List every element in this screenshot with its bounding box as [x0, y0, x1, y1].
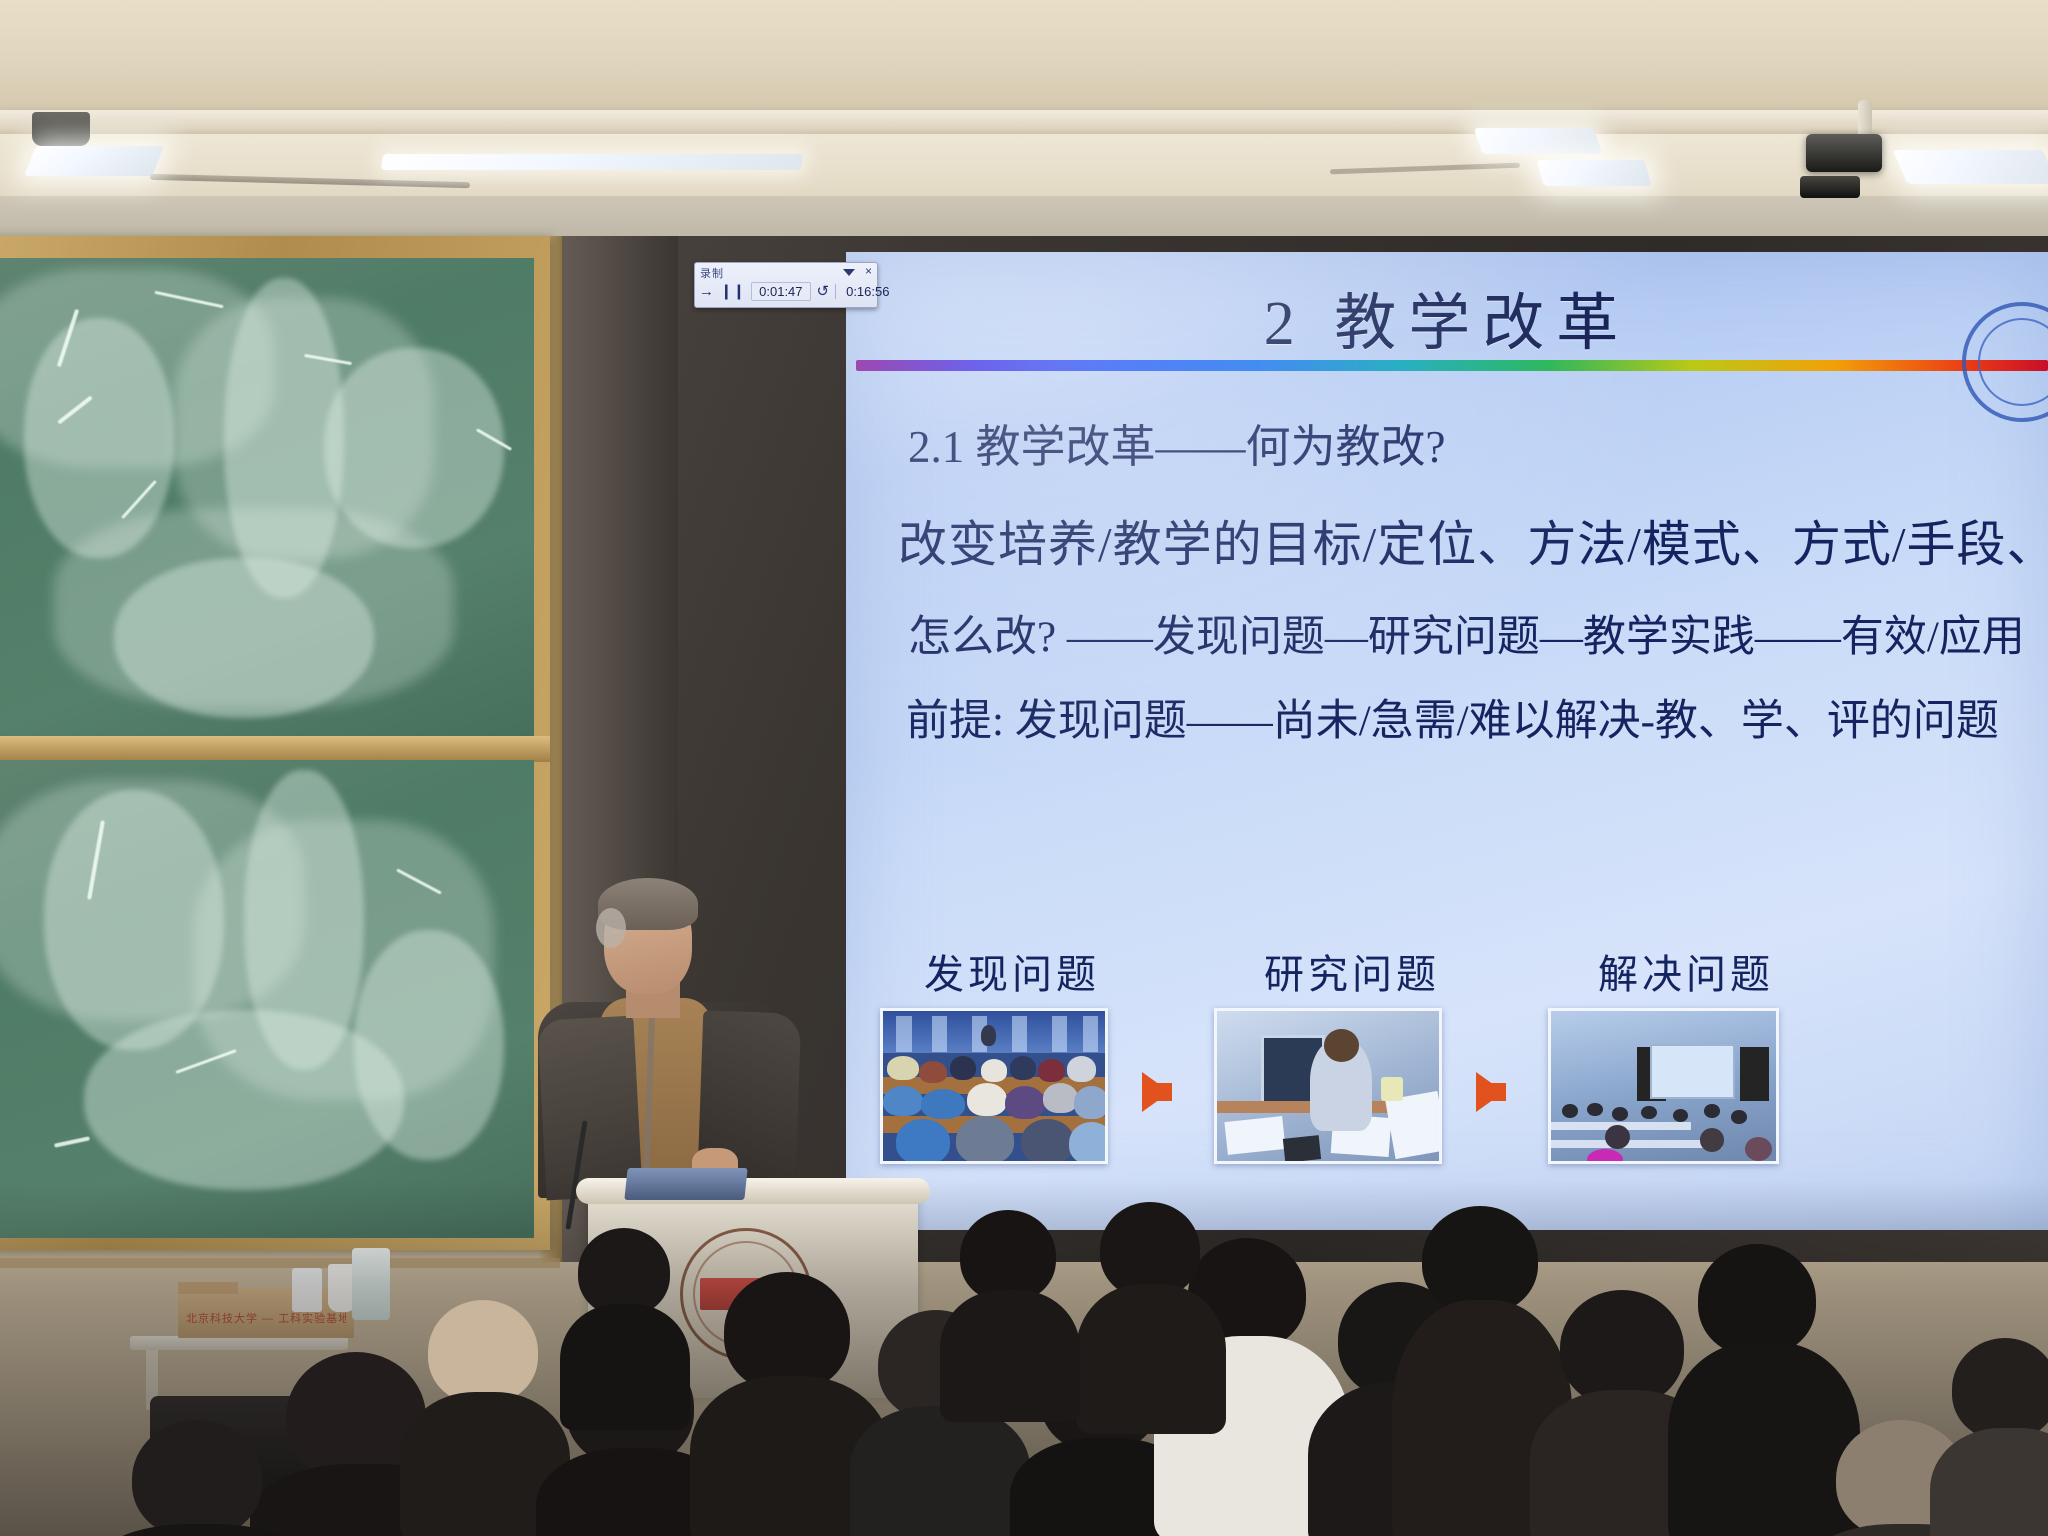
pause-icon[interactable]: ❙❙	[720, 284, 745, 299]
total-time-display: 0:16:56	[842, 283, 893, 300]
chalkboard-lower	[0, 760, 534, 1238]
paper-cup-1	[292, 1268, 322, 1312]
lecture-room-photo: 2 教学改革 2.1 教学改革——何为教改? 改变培养/教学的目标/定位、方法/…	[0, 0, 2048, 1536]
projected-slide: 2 教学改革 2.1 教学改革——何为教改? 改变培养/教学的目标/定位、方法/…	[846, 252, 2048, 1230]
recording-controls: → ❙❙ 0:01:47 ↺ 0:16:56	[699, 282, 893, 301]
flow-arrow-1	[1142, 1072, 1170, 1112]
flow-caption-1: 发现问题	[924, 942, 1100, 1000]
flow-caption-2: 研究问题	[1264, 942, 1440, 1000]
speaker-hair-gray-temple	[596, 908, 626, 948]
chalkboard-upper	[0, 258, 534, 736]
lectern-laptop	[624, 1168, 747, 1200]
slide-divider-rule	[856, 360, 2048, 371]
ceiling-light-5	[1474, 128, 1602, 154]
water-bottle	[352, 1248, 390, 1320]
elapsed-time-display: 0:01:47	[751, 282, 810, 301]
ceiling-band	[0, 134, 2048, 196]
slide-flow-diagram: 发现问题 研究问题 解决问题	[846, 942, 2048, 1222]
flow-photo-woman-studying	[1214, 1008, 1442, 1164]
slide-line-2: 改变培养/教学的目标/定位、方法/模式、方式/手段、内容/体	[898, 505, 2048, 576]
close-icon[interactable]: ×	[865, 265, 872, 277]
flow-photo-students-sleeping	[880, 1008, 1108, 1164]
ceiling-speaker	[32, 112, 90, 146]
slide-line-3: 怎么改? ——发现问题—研究问题—教学实践——有效/应用	[908, 602, 2048, 664]
slide-body: 2.1 教学改革——何为教改? 改变培养/教学的目标/定位、方法/模式、方式/手…	[894, 392, 2048, 748]
audience-member	[1076, 1202, 1226, 1422]
slide-title: 2 教学改革	[846, 272, 2048, 362]
flow-photo-lecture-hall	[1548, 1008, 1779, 1164]
ceiling-light-1	[24, 146, 164, 176]
wooden-supply-box-lid	[178, 1282, 238, 1294]
ceiling-upper	[0, 0, 2048, 118]
ceiling-light-4	[1892, 150, 2048, 184]
audience-member	[92, 1420, 312, 1536]
slide-line-4: 前提: 发现问题——尚未/急需/难以解决-教、学、评的问题	[906, 686, 2048, 748]
chalkboard-ledge	[0, 736, 550, 762]
board-lower-rail	[0, 1258, 560, 1268]
slide-line-1: 2.1 教学改革——何为教改?	[908, 410, 2048, 475]
toolbar-separator	[835, 284, 836, 299]
side-table	[130, 1336, 348, 1350]
recording-toolbar-title: 录制	[700, 265, 724, 281]
audience-member	[560, 1228, 690, 1418]
advance-slide-icon[interactable]: →	[699, 284, 714, 299]
recording-toolbar[interactable]: 录制 × → ❙❙ 0:01:47 ↺ 0:16:56	[694, 262, 878, 308]
audience-member	[1930, 1338, 2048, 1536]
flow-caption-3: 解决问题	[1598, 942, 1774, 1000]
ceiling-light-3	[1536, 160, 1651, 186]
audience-member	[940, 1210, 1080, 1410]
ceiling-projector	[1806, 134, 1882, 172]
ceiling-camera	[1800, 176, 1860, 198]
ceiling-beam	[0, 110, 2048, 136]
undo-icon[interactable]: ↺	[817, 284, 830, 299]
supply-box-label: 北京科技大学 — 工科实验基地	[186, 1310, 346, 1324]
ceiling-light-2	[381, 154, 803, 170]
chevron-down-icon[interactable]	[843, 269, 855, 276]
flow-arrow-2	[1476, 1072, 1504, 1112]
